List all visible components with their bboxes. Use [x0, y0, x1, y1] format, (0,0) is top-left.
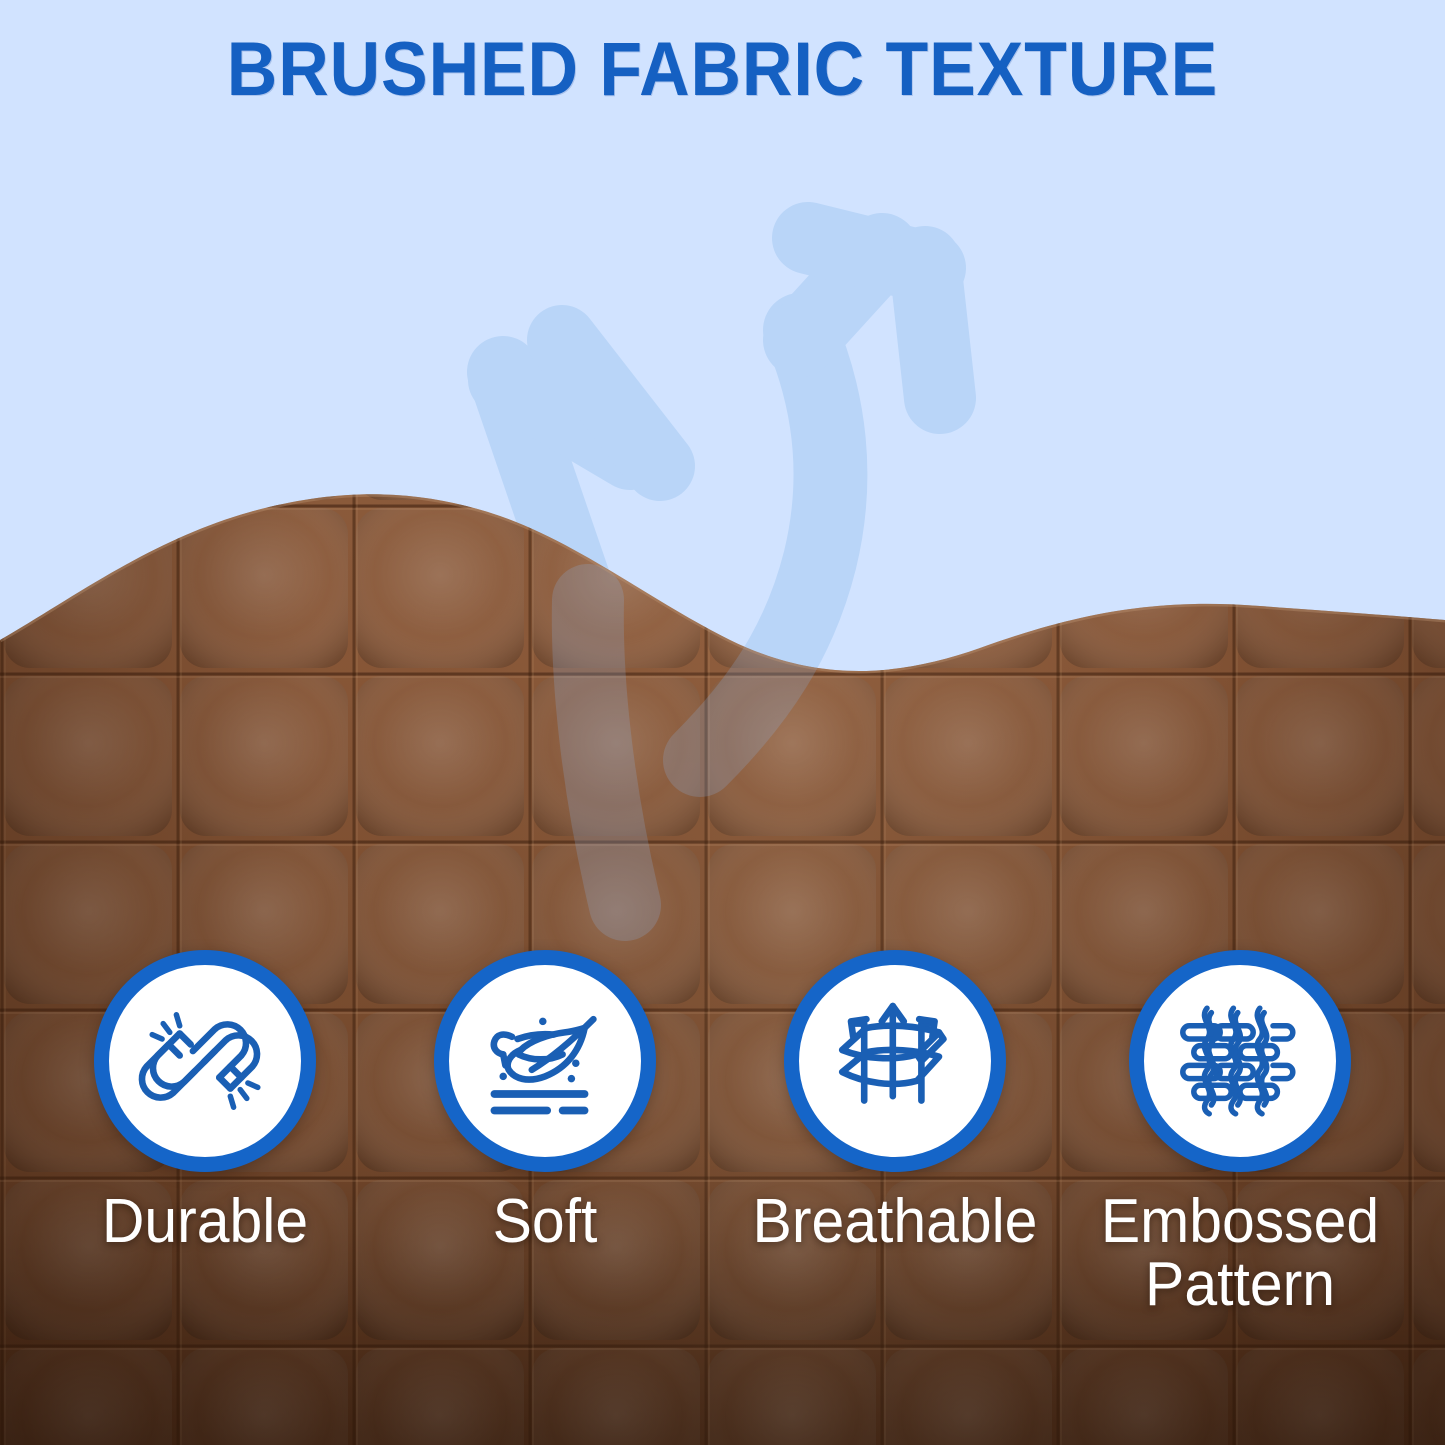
feature-badge-row: Durable: [0, 950, 1445, 1370]
feature-badge-breathable[interactable]: Breathable: [745, 950, 1045, 1253]
feature-label-breathable: Breathable: [753, 1190, 1038, 1253]
badge-circle: [1129, 950, 1351, 1172]
air-flow-fabric-icon: [829, 995, 961, 1127]
product-infographic: BRUSHED FABRIC TEXTURE: [0, 0, 1445, 1445]
feature-badge-soft[interactable]: Soft: [395, 950, 695, 1253]
surface-lines: [494, 1094, 584, 1111]
feature-label-line-2: Pattern: [1098, 1253, 1383, 1316]
feature-badge-durable[interactable]: Durable: [55, 950, 355, 1253]
badge-circle: [784, 950, 1006, 1172]
feature-label-embossed-pattern: Embossed Pattern: [1098, 1190, 1383, 1316]
feature-label-line-1: Embossed: [1098, 1190, 1383, 1253]
feature-label-soft: Soft: [403, 1190, 688, 1253]
air-arrows: [851, 1006, 935, 1101]
feature-label-durable: Durable: [63, 1190, 348, 1253]
chain-link-icon: [139, 995, 271, 1127]
woven-weave-icon: [1174, 995, 1306, 1127]
feather-icon: [479, 995, 611, 1127]
page-title: BRUSHED FABRIC TEXTURE: [58, 26, 1387, 113]
feature-badge-embossed-pattern[interactable]: Embossed Pattern: [1090, 950, 1390, 1316]
badge-circle: [434, 950, 656, 1172]
badge-circle: [94, 950, 316, 1172]
